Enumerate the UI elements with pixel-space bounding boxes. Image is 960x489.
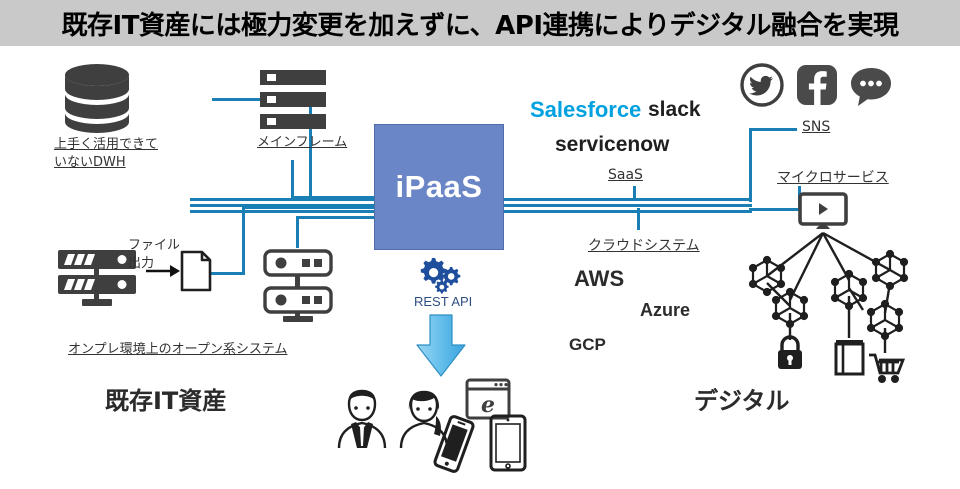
open-server-node[interactable] <box>262 248 334 324</box>
connector-mainframe-v <box>291 160 294 198</box>
left-section-caption: 既存IT資産 <box>105 381 226 416</box>
connector-openserver-v <box>296 216 299 248</box>
brand-slack: slack <box>648 98 701 122</box>
gears-icon <box>419 258 467 292</box>
brand-servicenow: servicenow <box>555 133 669 157</box>
chat-icon[interactable] <box>849 66 893 108</box>
document-icon <box>180 250 212 292</box>
sns-label: SNS <box>802 119 830 137</box>
brand-azure: Azure <box>640 300 690 321</box>
lock-icon <box>778 337 802 369</box>
brand-aws: AWS <box>574 266 624 292</box>
database-icon <box>55 62 140 134</box>
bus-left-line-2 <box>190 204 376 207</box>
connector-file-v <box>242 206 245 274</box>
cube-node-icon <box>832 271 866 309</box>
connector-micro-h <box>749 208 801 211</box>
microservice-mesh <box>735 228 940 383</box>
bus-right-line-2 <box>500 204 752 207</box>
connector-cloud-v <box>637 208 640 230</box>
connector-openserver-h <box>296 216 376 219</box>
bus-right-line-3 <box>500 210 752 213</box>
connector-sns-v <box>749 128 752 202</box>
smartphone-icon <box>434 415 474 473</box>
diagram-canvas: 既存IT資産には極力変更を加えずに、API連携によりデジタル融合を実現 iPaa… <box>0 0 960 489</box>
file-output-label-line1: ファイル <box>128 238 180 254</box>
mainframe-node[interactable]: メインフレーム <box>258 68 328 134</box>
cube-node-icon <box>750 257 784 295</box>
header-bar: 既存IT資産には極力変更を加えずに、API連携によりデジタル融合を実現 <box>0 0 960 46</box>
tablet-icon <box>489 414 527 472</box>
ipaas-label: iPaaS <box>396 169 483 205</box>
dwh-label-line1: 上手く活用できて <box>54 136 158 154</box>
dwh-node[interactable]: 上手く活用できて いないDWH <box>55 62 140 134</box>
cube-node-icon <box>873 251 907 289</box>
dwh-label-line2: いないDWH <box>54 154 126 172</box>
shopping-cart-icon <box>869 355 903 382</box>
bus-left-line-3 <box>190 210 376 213</box>
twitter-icon[interactable] <box>740 63 784 107</box>
ipaas-box[interactable]: iPaaS <box>374 124 504 250</box>
mainframe-icon <box>258 68 328 134</box>
bus-left-line-1 <box>190 198 376 201</box>
rest-api-label: REST API <box>414 294 472 309</box>
server-stack-icon <box>262 248 334 324</box>
page-title: 既存IT資産には極力変更を加えずに、API連携によりデジタル融合を実現 <box>62 5 899 42</box>
brand-gcp: GCP <box>569 335 606 355</box>
facebook-icon[interactable] <box>795 63 839 107</box>
monitor-play-icon[interactable] <box>798 192 848 230</box>
bus-right-line-1 <box>500 198 752 201</box>
microservices-label: マイクロサービス <box>777 170 889 188</box>
cube-node-icon <box>868 301 902 339</box>
brand-salesforce: Salesforce <box>530 97 641 123</box>
connector-sns-h <box>749 128 797 131</box>
man-user-icon <box>336 388 388 450</box>
down-arrow-icon <box>414 314 468 378</box>
saas-label: SaaS <box>608 167 643 185</box>
right-section-caption: デジタル <box>694 381 790 416</box>
book-icon <box>836 340 863 374</box>
onprem-label: オンプレ環境上のオープン系システム <box>68 342 287 358</box>
cloud-label: クラウドシステム <box>588 238 700 256</box>
connector-saas-v <box>633 186 636 200</box>
right-arrow-icon <box>146 263 180 279</box>
mainframe-label: メインフレーム <box>257 135 347 151</box>
